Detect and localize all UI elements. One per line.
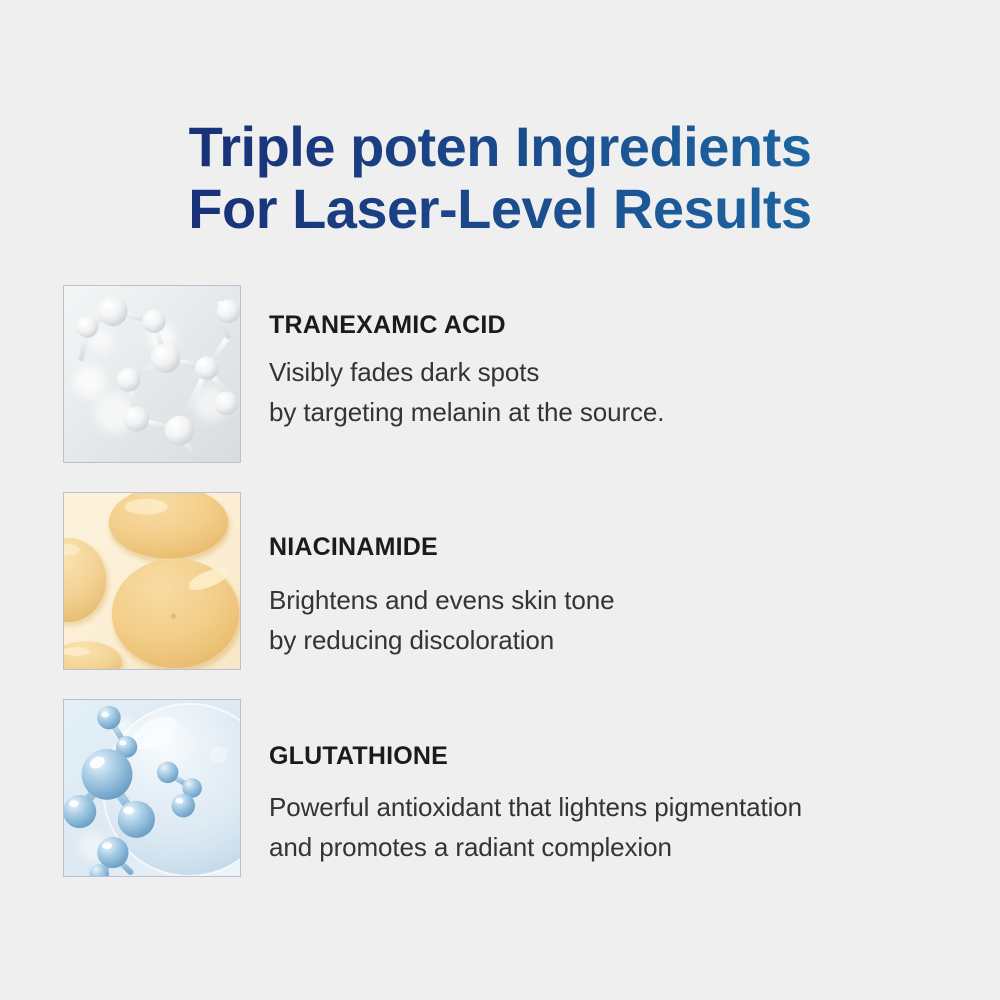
- ingredient-description-line-2: by targeting melanin at the source.: [269, 392, 664, 432]
- ingredient-item-tranexamic-acid: TRANEXAMIC ACID Visibly fades dark spots…: [63, 285, 963, 463]
- white-molecular-lattice-image: [63, 285, 241, 463]
- ingredient-description: Brightens and evens skin tone by reducin…: [269, 580, 614, 660]
- ingredient-description-line-1: Brightens and evens skin tone: [269, 580, 614, 620]
- ingredient-title: GLUTATHIONE: [269, 743, 802, 771]
- ingredient-copy: TRANEXAMIC ACID Visibly fades dark spots…: [269, 285, 664, 432]
- ingredient-description-line-2: and promotes a radiant complexion: [269, 827, 802, 867]
- ingredient-list: TRANEXAMIC ACID Visibly fades dark spots…: [63, 285, 963, 906]
- ingredient-description-line-1: Powerful antioxidant that lightens pigme…: [269, 787, 802, 827]
- ingredient-description: Powerful antioxidant that lightens pigme…: [269, 787, 802, 867]
- page-title-line-1: Triple poten Ingredients: [0, 116, 1000, 179]
- ingredient-copy: NIACINAMIDE Brightens and evens skin ton…: [269, 492, 614, 660]
- amber-serum-droplets-image: [63, 492, 241, 670]
- blue-molecule-bubble-image: [63, 699, 241, 877]
- ingredient-copy: GLUTATHIONE Powerful antioxidant that li…: [269, 699, 802, 867]
- page-title: Triple poten Ingredients For Laser-Level…: [0, 116, 1000, 241]
- ingredient-title: NIACINAMIDE: [269, 534, 614, 562]
- ingredient-item-glutathione: GLUTATHIONE Powerful antioxidant that li…: [63, 699, 963, 877]
- ingredient-title: TRANEXAMIC ACID: [269, 312, 664, 340]
- ingredient-description-line-1: Visibly fades dark spots: [269, 352, 664, 392]
- ingredient-item-niacinamide: NIACINAMIDE Brightens and evens skin ton…: [63, 492, 963, 670]
- page-title-line-2: For Laser-Level Results: [0, 178, 1000, 241]
- ingredient-description: Visibly fades dark spots by targeting me…: [269, 352, 664, 432]
- ingredient-description-line-2: by reducing discoloration: [269, 620, 614, 660]
